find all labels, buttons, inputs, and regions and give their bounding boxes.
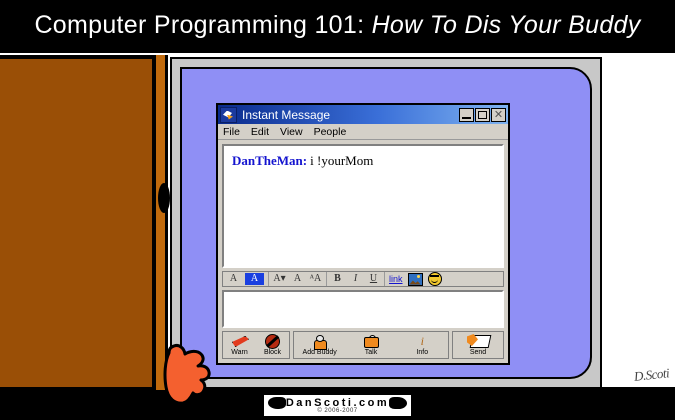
door	[0, 55, 156, 391]
talk-label: Talk	[365, 349, 377, 356]
info-button[interactable]: i Info	[397, 334, 448, 356]
title-italic: How To Dis Your Buddy	[372, 11, 641, 39]
conversation-area[interactable]: DanTheMan:i !yourMom	[222, 144, 504, 268]
window-controls: ✕	[459, 108, 506, 122]
info-label: Info	[416, 349, 428, 356]
menu-bar: File Edit View People	[218, 124, 508, 140]
buddy-button-group: Add Buddy Talk i Info	[293, 331, 449, 359]
block-label: Block	[264, 349, 281, 356]
send-label: Send	[470, 349, 486, 356]
formatting-toolbar: A A A▾ A ᴬA B I U	[222, 271, 504, 287]
block-button[interactable]: Block	[256, 334, 289, 356]
window-body: DanTheMan:i !yourMom A A A▾ A ᴬA	[218, 140, 508, 363]
maximize-button[interactable]	[475, 108, 490, 122]
minimize-button[interactable]	[459, 108, 474, 122]
add-buddy-button[interactable]: Add Buddy	[294, 334, 345, 356]
site-footer: DanScoti.com © 2006-2007	[0, 390, 675, 420]
menu-item-view[interactable]: View	[280, 126, 303, 138]
footer-logo[interactable]: DanScoti.com © 2006-2007	[264, 395, 411, 416]
window-title-bar[interactable]: Instant Message ✕	[218, 105, 508, 124]
window-title: Instant Message	[242, 108, 459, 122]
artist-signature: D.Scoti	[633, 365, 670, 385]
font-face-button[interactable]: A	[227, 274, 240, 284]
image-icon[interactable]	[408, 273, 423, 286]
footer-copyright: © 2006-2007	[317, 408, 357, 414]
aim-running-man-icon	[220, 107, 237, 123]
text-color-dropdown[interactable]: A▾	[273, 274, 286, 284]
block-icon	[265, 334, 280, 348]
door-knob	[158, 183, 170, 213]
talk-icon	[364, 334, 378, 348]
monitor-bezel: Instant Message ✕ File Edit View People	[170, 57, 602, 389]
message-text: i !yourMom	[310, 153, 373, 168]
send-button[interactable]: Send	[453, 334, 503, 356]
title-plain: Computer Programming 101:	[34, 11, 364, 39]
right-blob-icon	[389, 397, 407, 409]
format-group-font: A A	[223, 272, 269, 286]
add-buddy-icon	[313, 334, 327, 348]
comic-stage: Computer Programming 101: How To Dis You…	[0, 0, 675, 420]
instant-message-window: Instant Message ✕ File Edit View People	[216, 103, 510, 365]
title-banner: Computer Programming 101: How To Dis You…	[0, 0, 675, 50]
message-line: DanTheMan:i !yourMom	[232, 153, 494, 169]
info-icon: i	[421, 334, 424, 348]
warn-label: Warn	[231, 349, 247, 356]
format-group-style: B I U	[327, 272, 385, 286]
compose-input[interactable]	[222, 290, 504, 328]
font-size-scale-button[interactable]: ᴬA	[309, 274, 322, 284]
font-color-button[interactable]: A	[245, 273, 264, 285]
close-icon[interactable]: ✕	[491, 108, 506, 122]
action-button-bar: Warn Block Add Buddy	[222, 331, 504, 359]
add-buddy-label: Add Buddy	[303, 349, 337, 356]
warn-button[interactable]: Warn	[223, 334, 256, 356]
send-button-group: Send	[452, 331, 504, 359]
desktop-screen: Instant Message ✕ File Edit View People	[180, 67, 592, 379]
page-title: Computer Programming 101: How To Dis You…	[34, 11, 640, 40]
menu-item-edit[interactable]: Edit	[251, 126, 269, 138]
format-group-size: A▾ A ᴬA	[269, 272, 327, 286]
message-sender: DanTheMan:	[232, 153, 307, 168]
menu-item-people[interactable]: People	[314, 126, 347, 138]
link-button[interactable]: link	[389, 275, 403, 284]
menu-item-file[interactable]: File	[223, 126, 240, 138]
talk-button[interactable]: Talk	[345, 334, 396, 356]
comic-panel: Instant Message ✕ File Edit View People	[0, 50, 675, 390]
font-size-button[interactable]: A	[291, 274, 304, 284]
bold-button[interactable]: B	[331, 274, 344, 284]
moderation-button-group: Warn Block	[222, 331, 290, 359]
left-blob-icon	[268, 397, 286, 409]
format-group-insert: link	[385, 272, 446, 286]
italic-button[interactable]: I	[349, 274, 362, 284]
underline-button[interactable]: U	[367, 274, 380, 284]
hand-icon	[163, 341, 213, 406]
warn-icon	[232, 334, 247, 348]
send-icon	[467, 334, 489, 348]
smiley-icon[interactable]	[428, 272, 442, 286]
